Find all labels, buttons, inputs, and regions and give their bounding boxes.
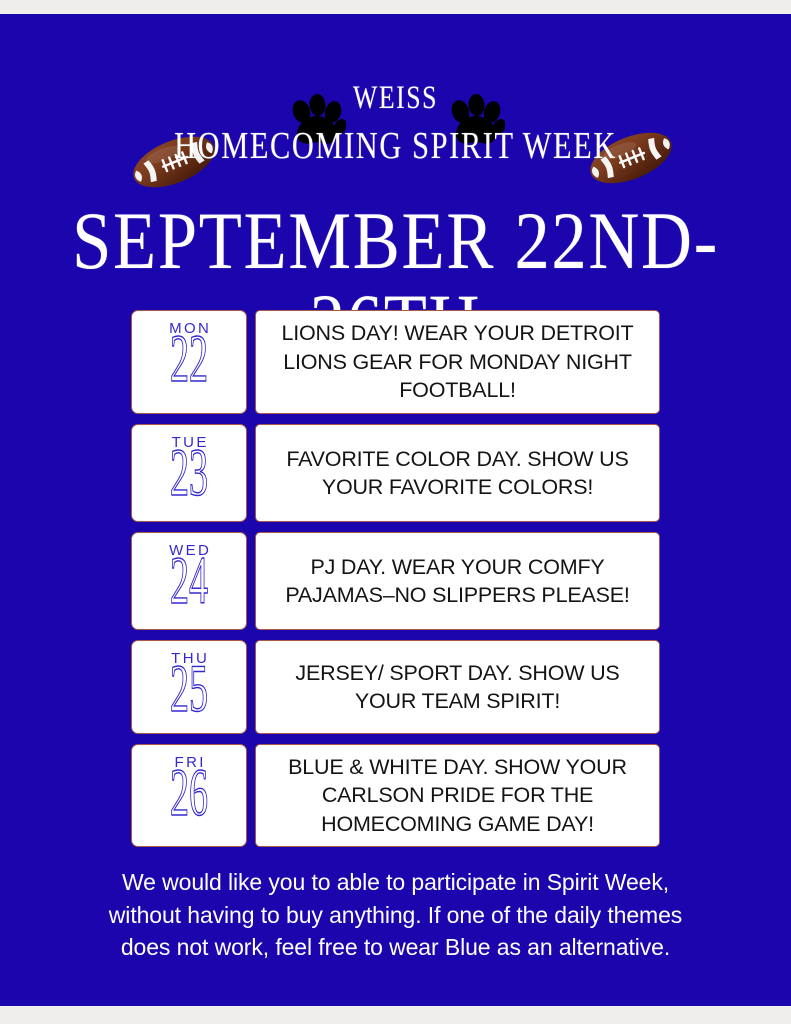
description-card-wed: PJ DAY. WEAR YOUR COMFY PAJAMAS–NO SLIPP… (255, 532, 660, 630)
description-card-mon: LIONS DAY! WEAR YOUR DETROIT LIONS GEAR … (255, 310, 660, 414)
description-card-thu: JERSEY/ SPORT DAY. SHOW US YOUR TEAM SPI… (255, 640, 660, 734)
schedule-row: WED 24 PJ DAY. WEAR YOUR COMFY PAJAMAS–N… (131, 532, 660, 630)
description-text: LIONS DAY! WEAR YOUR DETROIT LIONS GEAR … (270, 319, 645, 404)
description-text: PJ DAY. WEAR YOUR COMFY PAJAMAS–NO SLIPP… (270, 553, 645, 610)
schedule-row: MON 22 LIONS DAY! WEAR YOUR DETROIT LION… (131, 310, 660, 414)
description-text: FAVORITE COLOR DAY. SHOW US YOUR FAVORIT… (270, 445, 645, 502)
date-card-thu: THU 25 (131, 640, 247, 734)
schedule-row: TUE 23 FAVORITE COLOR DAY. SHOW US YOUR … (131, 424, 660, 522)
date-card-tue: TUE 23 (131, 424, 247, 522)
day-number: 25 (170, 662, 208, 715)
date-card-wed: WED 24 (131, 532, 247, 630)
description-card-fri: BLUE & WHITE DAY. SHOW YOUR CARLSON PRID… (255, 744, 660, 847)
spirit-week-poster: WEISS HOMECOMING SPIRIT WEEK SEPTEMBER 2… (0, 14, 791, 1006)
schedule-row: THU 25 JERSEY/ SPORT DAY. SHOW US YOUR T… (131, 640, 660, 734)
day-number: 23 (170, 446, 208, 499)
day-number: 26 (170, 766, 208, 819)
date-card-fri: FRI 26 (131, 744, 247, 847)
poster-title-block: WEISS HOMECOMING SPIRIT WEEK (0, 14, 791, 165)
schedule-row: FRI 26 BLUE & WHITE DAY. SHOW YOUR CARLS… (131, 744, 660, 847)
day-number: 24 (170, 554, 208, 607)
date-card-mon: MON 22 (131, 310, 247, 414)
spirit-week-schedule: MON 22 LIONS DAY! WEAR YOUR DETROIT LION… (131, 310, 660, 857)
page-root: WEISS HOMECOMING SPIRIT WEEK SEPTEMBER 2… (0, 0, 791, 1024)
description-text: JERSEY/ SPORT DAY. SHOW US YOUR TEAM SPI… (270, 659, 645, 716)
day-number: 22 (170, 332, 208, 385)
event-name: HOMECOMING SPIRIT WEEK (79, 127, 712, 165)
description-text: BLUE & WHITE DAY. SHOW YOUR CARLSON PRID… (270, 753, 645, 838)
description-card-tue: FAVORITE COLOR DAY. SHOW US YOUR FAVORIT… (255, 424, 660, 522)
footer-note: We would like you to able to participate… (108, 866, 683, 964)
school-name: WEISS (87, 82, 704, 115)
poster-header: WEISS HOMECOMING SPIRIT WEEK SEPTEMBER 2… (0, 14, 791, 214)
